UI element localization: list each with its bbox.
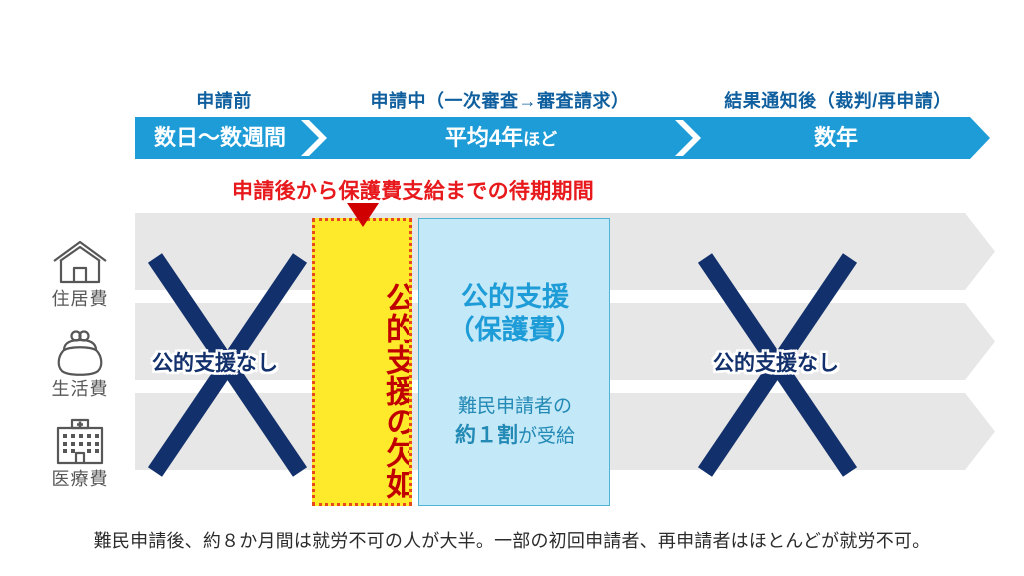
public-support-title-line2: （保護費）	[448, 315, 583, 345]
support-gap-text: 公的支援の欠如	[315, 265, 412, 506]
footer-note: 難民申請後、約８か月間は就労不可の人が大半。一部の初回申請者、再申請者はほとんど…	[0, 527, 1024, 553]
public-support-title: 公的支援 （保護費）	[419, 281, 611, 347]
timeline-duration-before-text: 数日〜数週間	[154, 125, 286, 150]
public-support-sub-line1: 難民申請者の	[458, 396, 572, 417]
purse-icon	[28, 322, 132, 378]
support-gap-caption: 申請後から保護費支給までの待期期間	[232, 175, 594, 205]
no-support-label-left: 公的支援なし	[152, 347, 278, 377]
infographic-canvas: 申請前 申請中（一次審査→審査請求） 結果通知後（裁判/再申請） 数日〜数週間 …	[0, 0, 1024, 576]
timeline-duration-during-text: 平均4年	[445, 125, 523, 150]
category-living-label: 生活費	[28, 380, 132, 400]
public-support-subtext: 難民申請者の 約１割が受給	[419, 393, 611, 451]
support-gap-text-wrap: 公的支援の欠如	[315, 241, 412, 499]
public-support-box: 公的支援 （保護費） 難民申請者の 約１割が受給	[418, 218, 610, 506]
down-triangle-icon	[347, 203, 379, 227]
timeline-duration-after-text: 数年	[814, 125, 858, 150]
timeline-duration-after: 数年	[701, 117, 971, 159]
timeline-duration-during: 平均4年ほど	[327, 117, 675, 159]
public-support-sub-rest: が受給	[518, 426, 575, 447]
category-medical-label: 医療費	[28, 470, 132, 490]
category-living: 生活費	[28, 322, 132, 400]
public-support-sub-strong: 約１割	[455, 424, 518, 447]
phase-label-after: 結果通知後（裁判/再申請）	[686, 92, 990, 110]
phase-label-during: 申請中（一次審査→審査請求）	[322, 92, 678, 110]
public-support-title-line1: 公的支援	[461, 282, 569, 312]
house-icon	[28, 232, 132, 288]
hospital-icon	[28, 412, 132, 468]
support-gap-box: 公的支援の欠如	[312, 218, 412, 506]
timeline-bar: 数日〜数週間 平均4年ほど 数年	[135, 117, 990, 159]
category-medical: 医療費	[28, 412, 132, 490]
category-housing: 住居費	[28, 232, 132, 310]
phase-label-before: 申請前	[135, 92, 313, 110]
timeline-duration-during-suffix: ほど	[523, 130, 557, 149]
no-support-label-right: 公的支援なし	[713, 347, 839, 377]
category-housing-label: 住居費	[28, 290, 132, 310]
timeline-duration-before: 数日〜数週間	[135, 117, 305, 159]
